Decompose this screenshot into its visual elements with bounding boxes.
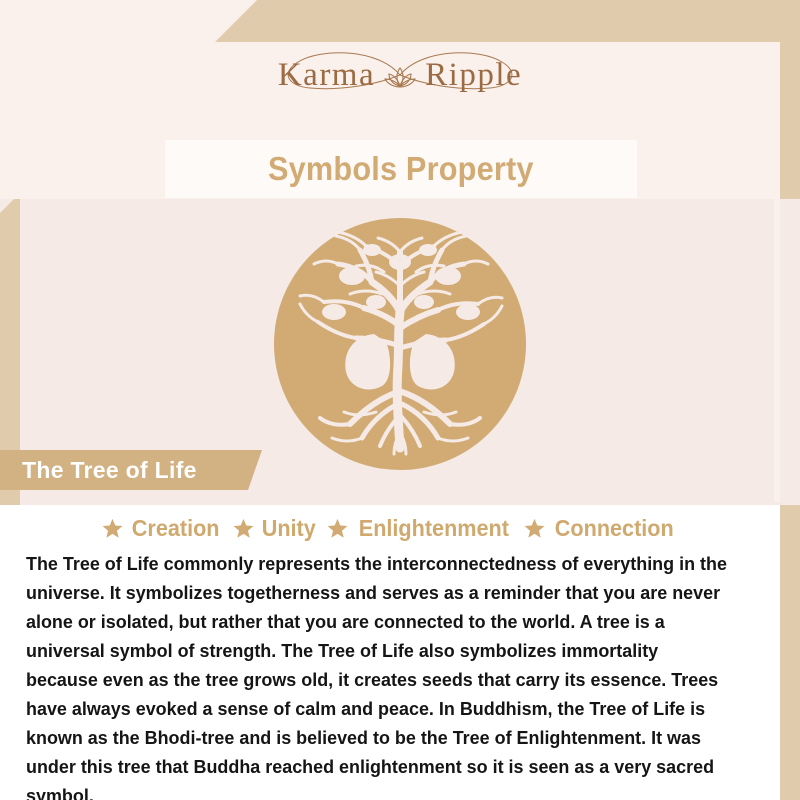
section-ribbon-label: The Tree of Life — [22, 457, 197, 484]
brand-name-right: Ripple — [425, 57, 522, 94]
keyword-list: Creation Unity Enlightenment Connection — [0, 505, 780, 542]
star-icon — [233, 518, 254, 539]
star-icon — [524, 518, 545, 539]
star-icon — [327, 518, 348, 539]
page-title-box: Symbols Property — [165, 140, 637, 198]
keyword-label: Enlightenment — [359, 515, 509, 542]
keyword-label: Creation — [132, 515, 220, 542]
brand-logo: Karma Ripple — [0, 36, 800, 114]
tree-of-life-icon — [272, 216, 528, 472]
infographic-page: Karma Ripple Symbols Prop — [0, 0, 800, 800]
section-ribbon: The Tree of Life — [0, 450, 262, 490]
brand-name: Karma Ripple — [278, 57, 522, 94]
keyword-item: Connection — [524, 515, 678, 542]
page-title: Symbols Property — [268, 150, 534, 188]
brand-name-left: Karma — [278, 57, 375, 94]
brand-logo-wrap: Karma Ripple — [250, 40, 550, 110]
lotus-icon — [383, 62, 417, 88]
keyword-item: Unity — [233, 515, 318, 542]
description-paragraph: The Tree of Life commonly represents the… — [26, 549, 730, 800]
keyword-item: Creation — [102, 515, 222, 542]
keyword-label: Connection — [555, 515, 674, 542]
content-panel: Creation Unity Enlightenment Connection — [0, 505, 780, 800]
star-icon — [102, 518, 123, 539]
keyword-item: Enlightenment — [327, 515, 514, 542]
keyword-label: Unity — [262, 515, 316, 542]
